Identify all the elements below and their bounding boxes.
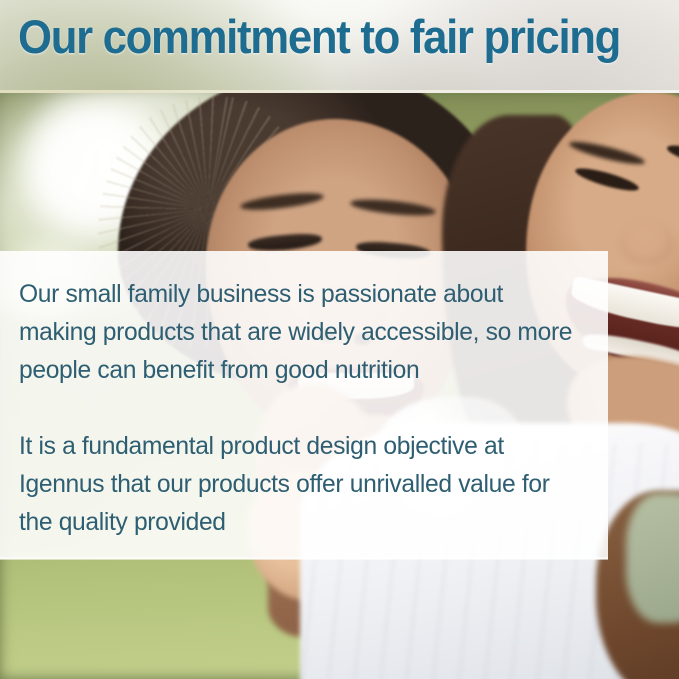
overlay-text-panel: Our small family business is passionate … [0, 251, 608, 559]
header-band: Our commitment to fair pricing [0, 0, 679, 93]
overlay-panel-edge [0, 557, 608, 560]
girl-nose [620, 221, 674, 265]
poster-root: Our small family business is passionate … [0, 0, 679, 679]
overlay-paragraph-1: Our small family business is passionate … [19, 275, 577, 389]
header-band-divider [0, 90, 679, 93]
background-green-patch [626, 493, 679, 623]
overlay-paragraph-2: It is a fundamental product design objec… [19, 427, 577, 541]
page-title: Our commitment to fair pricing [18, 13, 620, 60]
